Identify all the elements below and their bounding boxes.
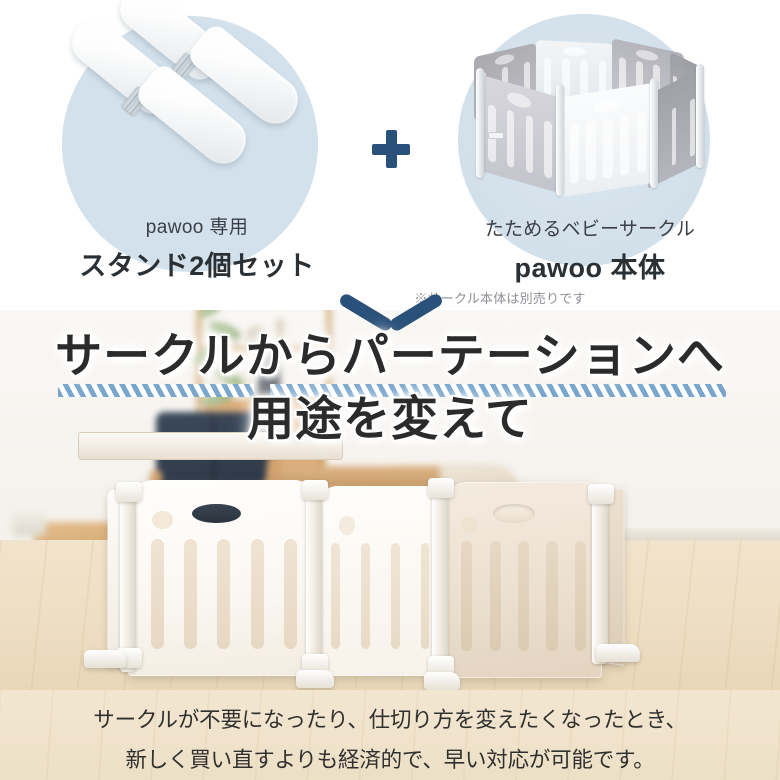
panel-dot	[461, 517, 477, 533]
plus-icon	[372, 130, 410, 168]
baby-playpen-photo	[460, 24, 710, 224]
product-left-caption-1: pawoo 専用	[42, 212, 352, 239]
panel-grip-hole	[192, 504, 241, 524]
panel-main-white	[128, 480, 316, 676]
product-right-caption-2: pawoo 本体	[430, 246, 750, 285]
stand-foot	[296, 670, 334, 688]
panel-clamp	[428, 478, 454, 498]
product-left-caption-2: スタンド2個セット	[42, 244, 352, 283]
panel-dot	[152, 511, 173, 529]
headline-block: サークルからパーテーションへ 用途を変えて	[0, 332, 780, 444]
panel-clamp	[588, 484, 614, 504]
chevron-down-icon	[345, 285, 437, 325]
product-promo-image: サークルからパーテーションへ 用途を変えて pawoo 専用 スタンド2個セット	[0, 0, 780, 780]
headline-line2: 用途を変えて	[0, 395, 780, 444]
stand-foot	[84, 650, 126, 668]
panel-clamp	[116, 482, 142, 502]
panel-middle-latch	[316, 486, 442, 676]
panel-joint	[120, 486, 136, 672]
panel-joint	[432, 482, 448, 680]
footer-line1: サークルが不要になったり、仕切り方を変えたくなったとき、	[0, 690, 780, 734]
top-product-section: pawoo 専用 スタンド2個セット たためるベビーサークル pawoo	[0, 0, 780, 310]
product-right-caption-1: たためるベビーサークル	[430, 214, 750, 241]
panel-right-beige	[442, 482, 602, 678]
footer-text-block: サークルが不要になったり、仕切り方を変えたくなったとき、 新しく買い直すよりも経…	[0, 690, 780, 780]
panel-grip-hole	[493, 504, 535, 524]
footer-line2: 新しく買い直すよりも経済的で、早い対応が可能です。	[0, 734, 780, 774]
stand-foot	[596, 644, 640, 662]
panel-clamp	[302, 480, 328, 500]
panel-joint	[306, 484, 322, 676]
playpen-latch	[488, 132, 504, 139]
stand-foot	[424, 672, 460, 690]
headline-line1: サークルからパーテーションへ	[0, 332, 780, 381]
stand-feet-photo	[54, 8, 334, 208]
panel-joint	[592, 488, 608, 664]
